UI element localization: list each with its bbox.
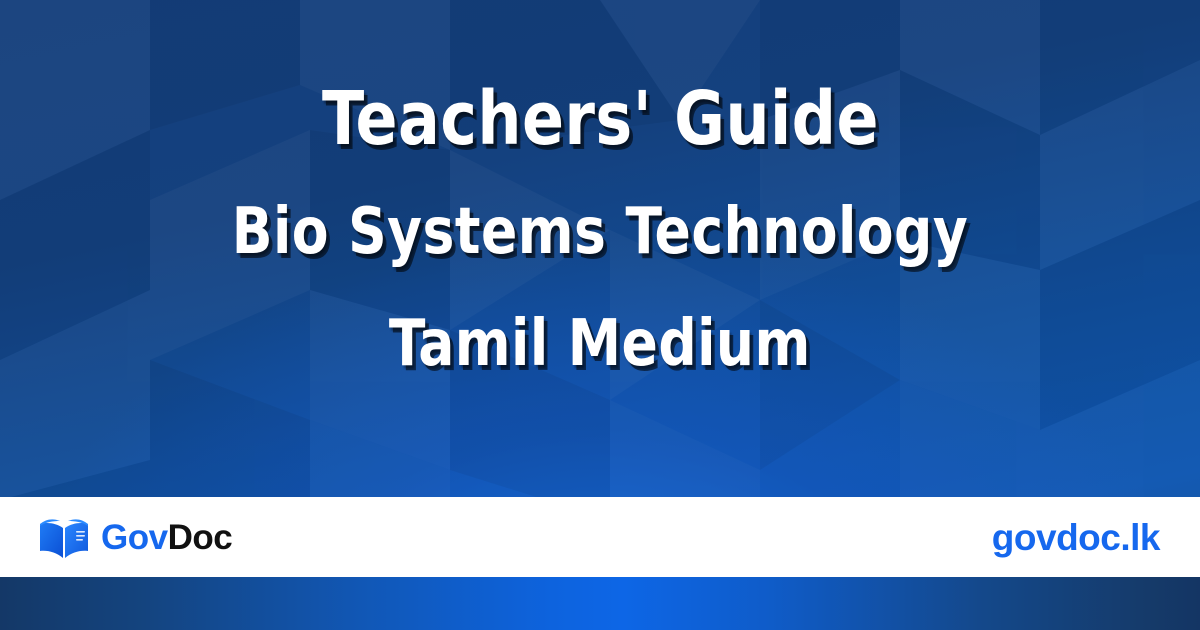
document-subject-line-2: Bio Systems Technology [232,200,969,264]
document-medium-line-3: Tamil Medium [389,312,811,376]
site-domain[interactable]: govdoc.lk [992,519,1160,556]
bottom-accent-strip [0,577,1200,630]
brand-logo[interactable]: GovDoc [38,515,232,560]
brand-wordmark-gov: Gov [101,518,168,557]
brand-wordmark: GovDoc [101,520,232,555]
document-title-line-1: Teachers' Guide [322,82,879,156]
brand-wordmark-doc: Doc [168,518,233,557]
hero-title-block: Teachers' Guide Bio Systems Technology T… [0,0,1200,497]
footer-bar: GovDoc govdoc.lk [0,497,1200,577]
open-book-icon [38,515,90,560]
preview-card: Teachers' Guide Bio Systems Technology T… [0,0,1200,630]
